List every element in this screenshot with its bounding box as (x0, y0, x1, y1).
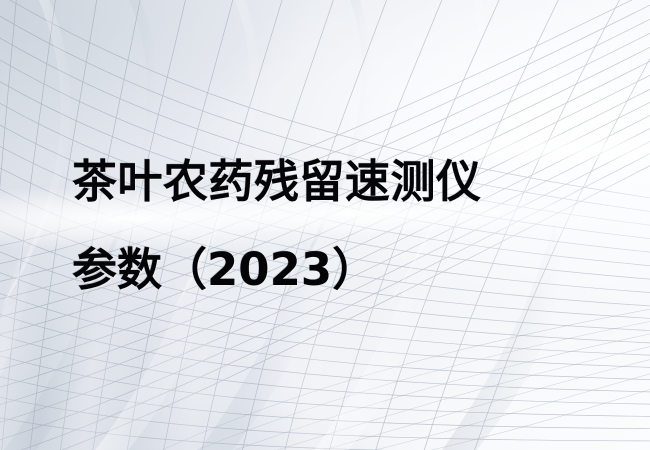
title-line-secondary: 参数（2023） (72, 226, 592, 314)
title-line-primary: 茶叶农药残留速测仪 (72, 138, 592, 226)
title-banner: 茶叶农药残留速测仪 参数（2023） (0, 0, 650, 450)
page-title: 茶叶农药残留速测仪 参数（2023） (72, 138, 592, 314)
